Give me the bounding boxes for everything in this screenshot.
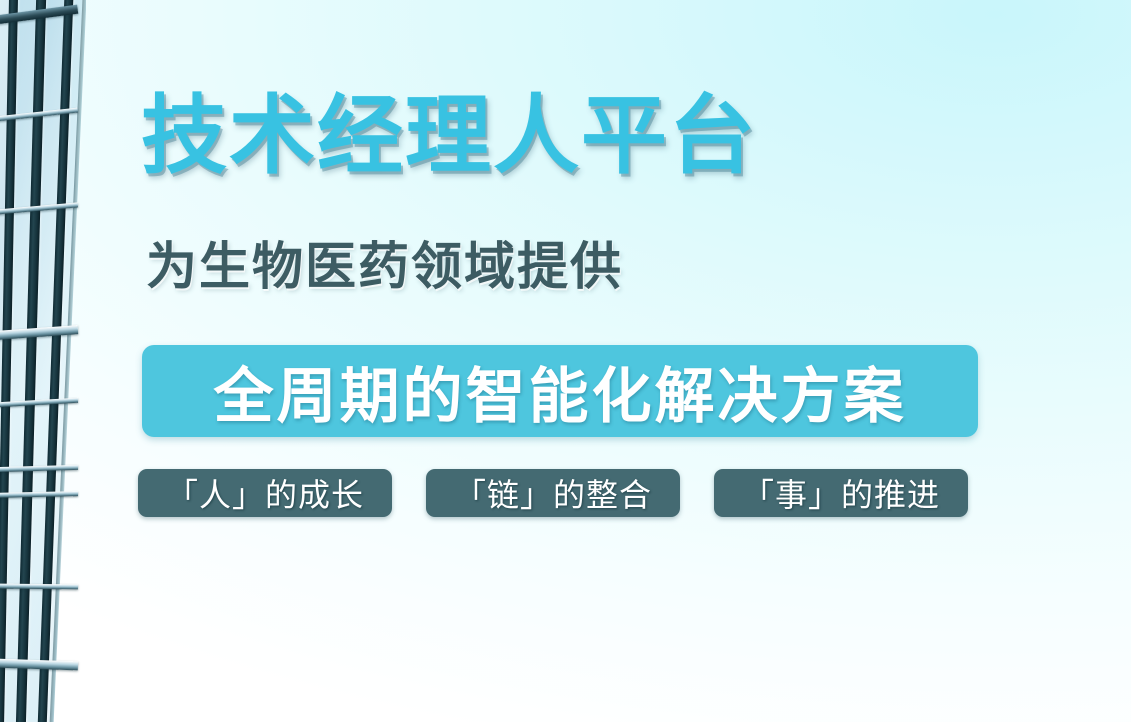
feature-tag-label: 「链」的整合 [454, 470, 652, 516]
building-floor-slab [0, 491, 78, 498]
building-floor-slab [0, 584, 78, 590]
highlight-banner-text: 全周期的智能化解决方案 [214, 348, 907, 435]
glass-skyscraper-facade-image [0, 0, 86, 722]
highlight-banner: 全周期的智能化解决方案 [142, 345, 978, 437]
feature-tag-label: 「事」的推进 [742, 470, 940, 516]
promo-poster: 技术经理人平台 为生物医药领域提供 全周期的智能化解决方案 「人」的成长 「链」… [0, 0, 1131, 722]
page-subtitle: 为生物医药领域提供 [146, 238, 623, 297]
feature-tag-chain: 「链」的整合 [426, 469, 680, 517]
page-title: 技术经理人平台 [141, 88, 757, 184]
feature-tag-matters: 「事」的推进 [714, 469, 968, 517]
feature-tag-list: 「人」的成长 「链」的整合 「事」的推进 [138, 469, 968, 517]
feature-tag-label: 「人」的成长 [166, 470, 364, 516]
feature-tag-people: 「人」的成长 [138, 469, 392, 517]
